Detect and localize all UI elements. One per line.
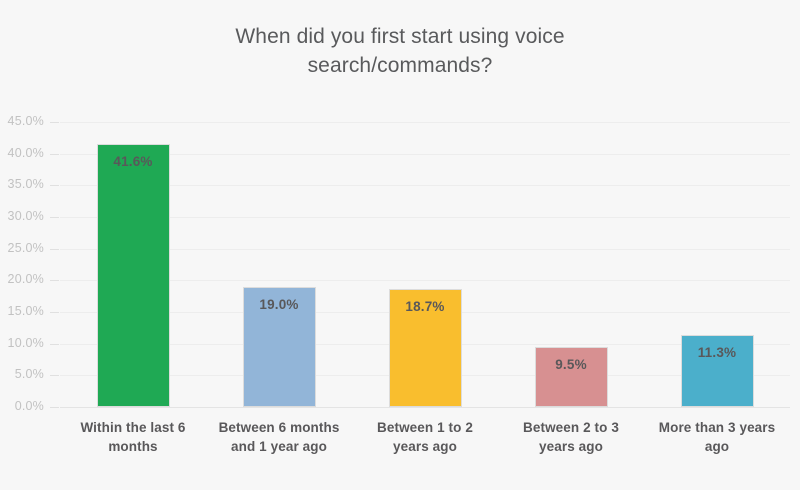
x-axis-category-label-line: Between 1 to 2 <box>352 418 498 437</box>
x-axis-category-label-line: years ago <box>498 437 644 456</box>
y-axis-tick-mark <box>50 375 59 376</box>
chart-title-line-1: When did you first start using voice <box>0 22 800 51</box>
y-axis-tick-label: 5.0% <box>0 367 44 381</box>
y-axis-tick-mark <box>50 312 59 313</box>
y-axis-tick-mark <box>50 344 59 345</box>
y-axis-tick-label: 40.0% <box>0 146 44 160</box>
gridline <box>60 217 790 218</box>
y-axis-tick-mark <box>50 217 59 218</box>
y-axis-tick-mark <box>50 122 59 123</box>
x-axis-category-label: Within the last 6months <box>60 418 206 456</box>
gridline <box>60 154 790 155</box>
bar[interactable]: 41.6% <box>97 144 170 407</box>
x-axis-category-label: Between 1 to 2years ago <box>352 418 498 456</box>
chart-title: When did you first start using voice sea… <box>0 22 800 80</box>
x-axis-category-label: More than 3 yearsago <box>644 418 790 456</box>
y-axis-tick-mark <box>50 185 59 186</box>
y-axis-tick-label: 25.0% <box>0 241 44 255</box>
bar[interactable]: 19.0% <box>243 287 316 407</box>
bar-value-label: 18.7% <box>390 299 461 314</box>
y-axis-tick-label: 0.0% <box>0 399 44 413</box>
gridline <box>60 122 790 123</box>
x-axis-category-label-line: years ago <box>352 437 498 456</box>
y-axis-tick-label: 20.0% <box>0 272 44 286</box>
y-axis-tick-label: 35.0% <box>0 177 44 191</box>
plot-area: 41.6%19.0%18.7%9.5%11.3% <box>60 122 790 407</box>
y-axis-tick-mark <box>50 249 59 250</box>
y-axis-tick-mark <box>50 154 59 155</box>
bar-value-label: 19.0% <box>244 297 315 312</box>
bar-value-label: 11.3% <box>682 345 753 360</box>
bar[interactable]: 18.7% <box>389 289 462 407</box>
bar[interactable]: 11.3% <box>681 335 754 407</box>
x-axis-category-label: Between 6 monthsand 1 year ago <box>206 418 352 456</box>
x-axis-category-label-line: Between 2 to 3 <box>498 418 644 437</box>
x-axis-category-label-line: months <box>60 437 206 456</box>
gridline <box>60 407 790 408</box>
x-axis-category-label-line: ago <box>644 437 790 456</box>
bar-value-label: 9.5% <box>536 357 607 372</box>
y-axis-tick-label: 10.0% <box>0 336 44 350</box>
x-axis-category-label-line: Between 6 months <box>206 418 352 437</box>
gridline <box>60 280 790 281</box>
x-axis-category-label-line: More than 3 years <box>644 418 790 437</box>
y-axis-tick-label: 15.0% <box>0 304 44 318</box>
y-axis-tick-label: 45.0% <box>0 114 44 128</box>
bar[interactable]: 9.5% <box>535 347 608 407</box>
chart-title-line-2: search/commands? <box>0 51 800 80</box>
x-axis-category-label-line: and 1 year ago <box>206 437 352 456</box>
bar-chart: When did you first start using voice sea… <box>0 0 800 490</box>
y-axis-tick-label: 30.0% <box>0 209 44 223</box>
y-axis-tick-mark <box>50 407 59 408</box>
x-axis-category-label-line: Within the last 6 <box>60 418 206 437</box>
gridline <box>60 249 790 250</box>
gridline <box>60 185 790 186</box>
x-axis-category-label: Between 2 to 3years ago <box>498 418 644 456</box>
y-axis-tick-mark <box>50 280 59 281</box>
bar-value-label: 41.6% <box>98 154 169 169</box>
